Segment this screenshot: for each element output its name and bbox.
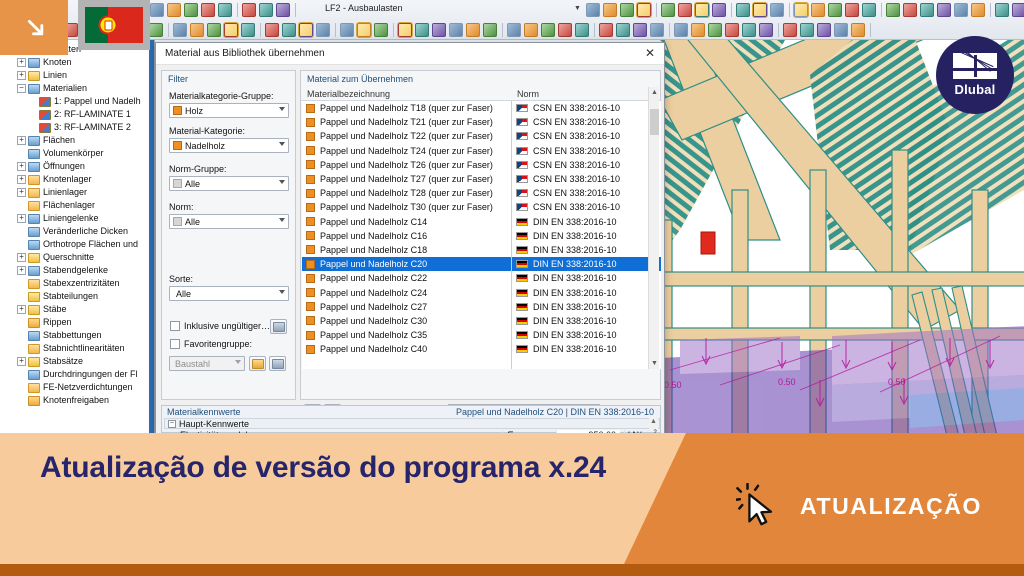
toolbar-icon[interactable] [432, 23, 446, 37]
navigator-item-label: 2: RF-LAMINATE 1 [54, 108, 131, 121]
toolbar-icon[interactable] [173, 23, 187, 37]
combo-sorte[interactable]: Alle [169, 286, 289, 301]
toolbar-separator [502, 23, 503, 37]
color-swatch-icon [306, 175, 315, 184]
expand-icon[interactable]: + [17, 175, 26, 184]
german-flag-icon [516, 289, 528, 297]
line-icon [28, 71, 40, 81]
expand-icon[interactable]: + [17, 214, 26, 223]
column-divider [511, 101, 512, 369]
toolbar-separator [731, 3, 732, 17]
toolbar-icon[interactable] [770, 3, 784, 17]
combo-value: Nadelholz [185, 141, 225, 151]
navigator-item-12[interactable]: Flächenlager [2, 199, 154, 212]
material-name: Pappel und Nadelholz T22 (quer zur Faser… [320, 131, 516, 141]
navigator-item-label: Stabsätze [43, 355, 83, 368]
toolbar-icon[interactable] [845, 3, 859, 17]
toolbar-icon[interactable] [299, 23, 313, 37]
navigator-item-23[interactable]: Stabnichtlinearitäten [2, 342, 154, 355]
navigator-item-19[interactable]: Stabteilungen [2, 290, 154, 303]
line-hinge-icon [28, 214, 40, 224]
toolbar-icon[interactable] [316, 23, 330, 37]
navigator-item-label: Stabteilungen [43, 290, 98, 303]
nodal-support-icon [28, 175, 40, 185]
properties-material-name: Pappel und Nadelholz C20 | DIN EN 338:20… [456, 407, 654, 417]
toolbar-icon[interactable] [783, 23, 797, 37]
navigator-item-14[interactable]: Veränderliche Dicken [2, 225, 154, 238]
foundation-icon [28, 331, 40, 341]
expand-icon[interactable]: + [17, 266, 26, 275]
chevron-down-icon [279, 142, 285, 146]
label-norm-group: Norm-Gruppe: [169, 164, 227, 174]
promo-banner: Atualização de versão do programa x.24 A… [0, 433, 1024, 576]
material-name: Pappel und Nadelholz T21 (quer zur Faser… [320, 117, 516, 127]
scrollbar-thumb[interactable] [650, 109, 659, 135]
material-properties-panel: Materialkennwerte Pappel und Nadelholz C… [161, 405, 661, 433]
combo-favorites[interactable]: Baustahl [169, 356, 245, 371]
tree-spacer [17, 227, 26, 236]
german-flag-icon [516, 317, 528, 325]
toolbar-icon[interactable] [586, 3, 600, 17]
navigator-item-11[interactable]: +Linienlager [2, 186, 154, 199]
material-name: Pappel und Nadelholz T30 (quer zur Faser… [320, 202, 516, 212]
toolbar-icon[interactable] [190, 23, 204, 37]
navigator-item-26[interactable]: FE-Netzverdichtungen [2, 381, 154, 394]
column-header-name: Materialbezeichnung [307, 89, 390, 99]
model-navigator[interactable]: −Modelldaten+Knoten+Linien−Materialien1:… [0, 40, 155, 440]
navigator-item-16[interactable]: +Querschnitte [2, 251, 154, 264]
navigator-item-9[interactable]: +Öffnungen [2, 160, 154, 173]
load-case-label: LF2 - Ausbaulasten [325, 3, 403, 13]
material-list-item[interactable]: Pappel und Nadelholz C27DIN EN 338:2016-… [302, 300, 661, 314]
material-name: Pappel und Nadelholz C14 [320, 217, 516, 227]
checkbox-include-invalid[interactable]: Inklusive ungültiger… [170, 321, 270, 331]
material-list-item[interactable]: Pappel und Nadelholz C22DIN EN 338:2016-… [302, 271, 661, 285]
color-swatch-icon [173, 106, 182, 115]
color-swatch-icon [306, 231, 315, 240]
color-swatch-icon [306, 260, 315, 269]
toolbar-icon[interactable] [817, 23, 831, 37]
material-list-scrollbar[interactable]: ▲ ▼ [648, 87, 659, 369]
load-value-label: 0.50 [778, 377, 796, 387]
combo-material-category-group[interactable]: Holz [169, 103, 289, 118]
toolbar-separator [789, 3, 790, 17]
material-norm: DIN EN 338:2016-10 [533, 330, 617, 340]
material-norm: DIN EN 338:2016-10 [533, 288, 617, 298]
toolbar-icon[interactable] [674, 23, 688, 37]
navigator-item-label: 1: Pappel und Nadelh [54, 95, 141, 108]
toolbar-separator [237, 3, 238, 17]
material-list-item[interactable]: Pappel und Nadelholz T22 (quer zur Faser… [302, 129, 661, 143]
toolbar-icon[interactable] [241, 23, 255, 37]
division-icon [28, 292, 40, 302]
toolbar-icon[interactable] [937, 3, 951, 17]
library-icon [273, 322, 285, 332]
dialog-title-bar: Material aus Bibliothek übernehmen ✕ [156, 43, 664, 65]
material-library-dialog[interactable]: Material aus Bibliothek übernehmen ✕ Fil… [155, 42, 665, 434]
toolbar-icon[interactable] [507, 23, 521, 37]
banner-cta-text: ATUALIZAÇÃO [800, 493, 982, 520]
toolbar-icon[interactable] [828, 3, 842, 17]
navigator-item-10[interactable]: +Knotenlager [2, 173, 154, 186]
toolbar-icon[interactable] [1012, 3, 1024, 17]
tree-spacer [17, 318, 26, 327]
color-swatch-icon [306, 132, 315, 141]
material-name: Pappel und Nadelholz C16 [320, 231, 516, 241]
material-list-item[interactable]: Pappel und Nadelholz C30DIN EN 338:2016-… [302, 314, 661, 328]
toolbar-icon[interactable] [149, 23, 163, 37]
checkbox-box-icon [170, 321, 180, 331]
navigator-item-20[interactable]: +Stäbe [2, 303, 154, 316]
toolbar-icon[interactable] [541, 23, 555, 37]
toolbar-icon[interactable] [483, 23, 497, 37]
toolbar-icon[interactable] [637, 3, 651, 17]
navigator-item-1[interactable]: +Knoten [2, 56, 154, 69]
material-name: Pappel und Nadelholz C20 [320, 259, 516, 269]
material-norm: CSN EN 338:2016-10 [533, 174, 620, 184]
toolbar-icon[interactable] [218, 3, 232, 17]
color-swatch-icon [306, 104, 315, 113]
material-list-rows[interactable]: Pappel und Nadelholz T18 (quer zur Faser… [302, 101, 661, 369]
opening-icon [28, 162, 40, 172]
toolbar-icon[interactable] [650, 23, 664, 37]
navigator-tree[interactable]: −Modelldaten+Knoten+Linien−Materialien1:… [0, 40, 154, 407]
toolbar-icon[interactable] [995, 3, 1009, 17]
toolbar-icon[interactable] [184, 3, 198, 17]
checkbox-favorites-group[interactable]: Favoritengruppe: [170, 339, 252, 349]
toolbar-icon[interactable] [708, 23, 722, 37]
german-flag-icon [516, 303, 528, 311]
toolbar-icon[interactable] [599, 23, 613, 37]
filter-group: Filter Materialkategorie-Gruppe: Holz Ma… [161, 70, 296, 400]
navigator-item-label: Flächenlager [43, 199, 95, 212]
navigator-item-label: Stabendgelenke [43, 264, 108, 277]
label-norm: Norm: [169, 202, 194, 212]
toolbar-icon[interactable] [466, 23, 480, 37]
properties-group-row[interactable]: − Haupt-Kennwerte [164, 418, 660, 429]
navigator-item-24[interactable]: +Stabsätze [2, 355, 154, 368]
color-swatch-icon [173, 217, 182, 226]
toolbar-icon[interactable] [558, 23, 572, 37]
screenshot-root: LF2 - Ausbaulasten ▼ −Modelldaten+Knoten… [0, 0, 1024, 576]
checkbox-label: Favoritengruppe: [184, 339, 252, 349]
toolbar-icon[interactable] [524, 23, 538, 37]
tree-spacer [17, 383, 26, 392]
toolbar-icon[interactable] [276, 3, 290, 17]
german-flag-icon [516, 218, 528, 226]
toolbar-icon[interactable] [415, 23, 429, 37]
folder-icon [252, 359, 264, 369]
node-icon [28, 58, 40, 68]
toolbar-row-bottom[interactable] [0, 20, 1024, 40]
tree-spacer [28, 123, 37, 132]
toolbar-icon[interactable] [449, 23, 463, 37]
toolbar-icon[interactable] [167, 3, 181, 17]
combo-material-category[interactable]: Nadelholz [169, 138, 289, 153]
checkbox-label: Inklusive ungültiger… [184, 321, 270, 331]
czech-flag-icon [516, 161, 528, 169]
combo-norm-group[interactable]: Alle [169, 176, 289, 191]
material-norm: CSN EN 338:2016-10 [533, 202, 620, 212]
material-list-item[interactable]: Pappel und Nadelholz C20DIN EN 338:2016-… [302, 257, 661, 271]
toolbar-icon[interactable] [753, 3, 767, 17]
toolbar-icon[interactable] [800, 23, 814, 37]
toolbar-icon[interactable] [736, 3, 750, 17]
tree-spacer [17, 149, 26, 158]
navigator-item-27[interactable]: Knotenfreigaben [2, 394, 154, 407]
toolbar-icon[interactable] [357, 23, 371, 37]
toolbar-icon[interactable] [633, 23, 647, 37]
chevron-down-icon [235, 360, 241, 364]
navigator-item-15[interactable]: Orthotrope Flächen und [2, 238, 154, 251]
toolbar-icon[interactable] [886, 3, 900, 17]
toolbar-icon[interactable] [150, 3, 164, 17]
dialog-title: Material aus Bibliothek übernehmen [165, 48, 325, 59]
toolbar-icon[interactable] [862, 3, 876, 17]
navigator-item-label: Stabexzentrizitäten [43, 277, 120, 290]
toolbar-icon[interactable] [661, 3, 675, 17]
collapse-icon[interactable]: − [168, 420, 176, 428]
edit-invalid-button[interactable] [270, 319, 287, 334]
toolbar-icon[interactable] [851, 23, 865, 37]
surface-icon [28, 136, 40, 146]
expand-icon[interactable]: + [17, 136, 26, 145]
toolbar-icon[interactable] [712, 3, 726, 17]
material-list-item[interactable]: Pappel und Nadelholz T26 (quer zur Faser… [302, 158, 661, 172]
navigator-item-5[interactable]: 2: RF-LAMINATE 1 [2, 108, 154, 121]
load-value-label: 0.50 [664, 380, 682, 390]
checkbox-box-icon [170, 339, 180, 349]
toolbar-icon[interactable] [794, 3, 808, 17]
czech-flag-icon [516, 175, 528, 183]
tree-spacer [17, 279, 26, 288]
load-value-label: 0.50 [888, 377, 906, 387]
toolbar-icon[interactable] [207, 23, 221, 37]
toolbar-icon[interactable] [259, 3, 273, 17]
toolbar-icon[interactable] [242, 3, 256, 17]
toolbar-icon[interactable] [811, 3, 825, 17]
german-flag-icon [516, 331, 528, 339]
toolbar-icon[interactable] [678, 3, 692, 17]
navigator-item-label: Rippen [43, 316, 72, 329]
tree-spacer [17, 396, 26, 405]
combo-value: Alle [176, 289, 191, 299]
toolbar-separator [393, 23, 394, 37]
eccentricity-icon [28, 279, 40, 289]
properties-group-label: Haupt-Kennwerte [179, 419, 249, 429]
dlubal-wordmark: Dlubal [955, 82, 996, 97]
color-swatch-icon [306, 245, 315, 254]
material-norm: DIN EN 338:2016-10 [533, 231, 617, 241]
edit-favorites-group-button[interactable] [269, 356, 286, 371]
toolbar-icon[interactable] [742, 23, 756, 37]
material-name: Pappel und Nadelholz C30 [320, 316, 516, 326]
tree-spacer [17, 201, 26, 210]
combo-value: Baustahl [175, 359, 210, 369]
expand-icon[interactable]: + [17, 162, 26, 171]
language-flag-chip [78, 0, 150, 50]
toolbar-icon[interactable] [374, 23, 388, 37]
toolbar-separator [881, 3, 882, 17]
navigator-item-22[interactable]: Stabbettungen [2, 329, 154, 342]
mesh-refinement-icon [28, 383, 40, 393]
navigator-item-label: Stäbe [43, 303, 67, 316]
german-flag-icon [516, 246, 528, 254]
material-norm: DIN EN 338:2016-10 [533, 245, 617, 255]
material-name: Pappel und Nadelholz C18 [320, 245, 516, 255]
filter-group-title: Filter [168, 74, 188, 84]
navigator-item-3[interactable]: −Materialien [2, 82, 154, 95]
toolbar-separator [335, 23, 336, 37]
expand-icon[interactable]: + [17, 305, 26, 314]
navigator-item-6[interactable]: 3: RF-LAMINATE 2 [2, 121, 154, 134]
navigator-item-8[interactable]: Volumenkörper [2, 147, 154, 160]
toolbar-separator [168, 23, 169, 37]
toolbar-icon[interactable] [575, 23, 589, 37]
banner-cta[interactable]: ATUALIZAÇÃO [736, 483, 982, 529]
close-icon[interactable]: ✕ [642, 46, 658, 62]
chevron-down-icon[interactable]: ▼ [574, 5, 581, 12]
tree-spacer [28, 97, 37, 106]
toolbar-icon[interactable] [834, 23, 848, 37]
material-norm: CSN EN 338:2016-10 [533, 131, 620, 141]
toolbar-icon[interactable] [340, 23, 354, 37]
toolbar-icon[interactable] [920, 3, 934, 17]
collapse-icon[interactable]: − [17, 84, 26, 93]
toolbar-icon[interactable] [759, 23, 773, 37]
material-norm: CSN EN 338:2016-10 [533, 188, 620, 198]
color-swatch-icon [306, 203, 315, 212]
expand-icon[interactable]: + [17, 71, 26, 80]
navigator-item-label: 3: RF-LAMINATE 2 [54, 121, 131, 134]
toolbar-icon[interactable] [603, 3, 617, 17]
toolbar-separator [870, 23, 871, 37]
material-norm: DIN EN 338:2016-10 [533, 259, 617, 269]
material-list-item[interactable]: Pappel und Nadelholz C24DIN EN 338:2016-… [302, 285, 661, 299]
material-list-item[interactable]: Pappel und Nadelholz C40DIN EN 338:2016-… [302, 342, 661, 356]
czech-flag-icon [516, 189, 528, 197]
toolbar-icon[interactable] [971, 3, 985, 17]
scroll-down-icon[interactable]: ▼ [649, 358, 660, 369]
toolbar-icon[interactable] [691, 23, 705, 37]
material-list-item[interactable]: Pappel und Nadelholz T18 (quer zur Faser… [302, 101, 661, 115]
material-list-item[interactable]: Pappel und Nadelholz T28 (quer zur Faser… [302, 186, 661, 200]
label-material-category-group: Materialkategorie-Gruppe: [169, 91, 274, 101]
navigator-item-4[interactable]: 1: Pappel und Nadelh [2, 95, 154, 108]
toolbar-icon[interactable] [725, 23, 739, 37]
color-swatch-icon [306, 274, 315, 283]
toolbar-separator [656, 3, 657, 17]
nodal-release-icon [28, 396, 40, 406]
expand-icon[interactable]: + [17, 188, 26, 197]
combo-value: Alle [185, 179, 200, 189]
czech-flag-icon [516, 203, 528, 211]
expand-icon[interactable]: + [17, 253, 26, 262]
navigator-scrollbar[interactable] [149, 40, 154, 440]
toolbar-icon[interactable] [265, 23, 279, 37]
color-swatch-icon [306, 146, 315, 155]
toolbar-icon[interactable] [903, 3, 917, 17]
column-header-norm: Norm [517, 89, 539, 99]
toolbar-icon[interactable] [398, 23, 412, 37]
navigator-item-2[interactable]: +Linien [2, 69, 154, 82]
portugal-flag-icon [85, 7, 143, 43]
german-flag-icon [516, 232, 528, 240]
toolbar-icon[interactable] [620, 3, 634, 17]
material-name: Pappel und Nadelholz T18 (quer zur Faser… [320, 103, 516, 113]
tree-spacer [17, 240, 26, 249]
material-name: Pappel und Nadelholz T26 (quer zur Faser… [320, 160, 516, 170]
expand-icon[interactable]: + [17, 357, 26, 366]
navigator-item-18[interactable]: Stabexzentrizitäten [2, 277, 154, 290]
tree-spacer [17, 370, 26, 379]
navigator-item-7[interactable]: +Flächen [2, 134, 154, 147]
material-list-item[interactable]: Pappel und Nadelholz T21 (quer zur Faser… [302, 115, 661, 129]
navigator-item-label: Orthotrope Flächen und [43, 238, 138, 251]
navigator-item-21[interactable]: Rippen [2, 316, 154, 329]
orange-corner-badge [0, 0, 68, 55]
material-norm: CSN EN 338:2016-10 [533, 103, 620, 113]
navigator-item-label: Liniengelenke [43, 212, 99, 225]
toolbar-icon[interactable] [282, 23, 296, 37]
material-list-item[interactable]: Pappel und Nadelholz T24 (quer zur Faser… [302, 144, 661, 158]
toolbar-row-top[interactable] [0, 0, 1024, 20]
new-favorites-group-button[interactable] [249, 356, 266, 371]
color-swatch-icon [306, 316, 315, 325]
material-list-item[interactable]: Pappel und Nadelholz C35DIN EN 338:2016-… [302, 328, 661, 342]
armillary-sphere-icon [99, 16, 118, 35]
material-name: Pappel und Nadelholz C35 [320, 330, 516, 340]
toolbar-icon[interactable] [954, 3, 968, 17]
tree-spacer [17, 344, 26, 353]
material-name: Pappel und Nadelholz C40 [320, 344, 516, 354]
czech-flag-icon [516, 147, 528, 155]
scroll-up-icon[interactable]: ▲ [649, 87, 660, 98]
navigator-item-label: Volumenkörper [43, 147, 104, 160]
chevron-down-icon [279, 290, 285, 294]
material-name: Pappel und Nadelholz C24 [320, 288, 516, 298]
label-material-category: Material-Kategorie: [169, 126, 245, 136]
toolbar-icon[interactable] [201, 3, 215, 17]
toolbar-icon[interactable] [224, 23, 238, 37]
toolbar-icon[interactable] [695, 3, 709, 17]
material-list-item[interactable]: Pappel und Nadelholz C18DIN EN 338:2016-… [302, 243, 661, 257]
color-swatch-icon [306, 118, 315, 127]
material-list-item[interactable]: Pappel und Nadelholz T30 (quer zur Faser… [302, 200, 661, 214]
expand-icon[interactable]: + [17, 58, 26, 67]
material-list-item[interactable]: Pappel und Nadelholz T27 (quer zur Faser… [302, 172, 661, 186]
nonlinearity-icon [28, 344, 40, 354]
navigator-item-label: Flächen [43, 134, 75, 147]
material-list-title: Material zum Übernehmen [307, 74, 413, 84]
navigator-item-13[interactable]: +Liniengelenke [2, 212, 154, 225]
material-norm: CSN EN 338:2016-10 [533, 117, 620, 127]
color-swatch-icon [306, 331, 315, 340]
thickness-icon [28, 227, 40, 237]
combo-norm[interactable]: Alle [169, 214, 289, 229]
navigator-item-25[interactable]: Durchdringungen der Fl [2, 368, 154, 381]
navigator-item-label: Knotenfreigaben [43, 394, 109, 407]
orthotropic-icon [28, 240, 40, 250]
german-flag-icon [516, 260, 528, 268]
material-list-item[interactable]: Pappel und Nadelholz C14DIN EN 338:2016-… [302, 215, 661, 229]
color-swatch-icon [306, 345, 315, 354]
toolbar-separator [669, 23, 670, 37]
toolbar-icon[interactable] [616, 23, 630, 37]
material-list-item[interactable]: Pappel und Nadelholz C16DIN EN 338:2016-… [302, 229, 661, 243]
navigator-item-17[interactable]: +Stabendgelenke [2, 264, 154, 277]
navigator-item-label: Querschnitte [43, 251, 94, 264]
